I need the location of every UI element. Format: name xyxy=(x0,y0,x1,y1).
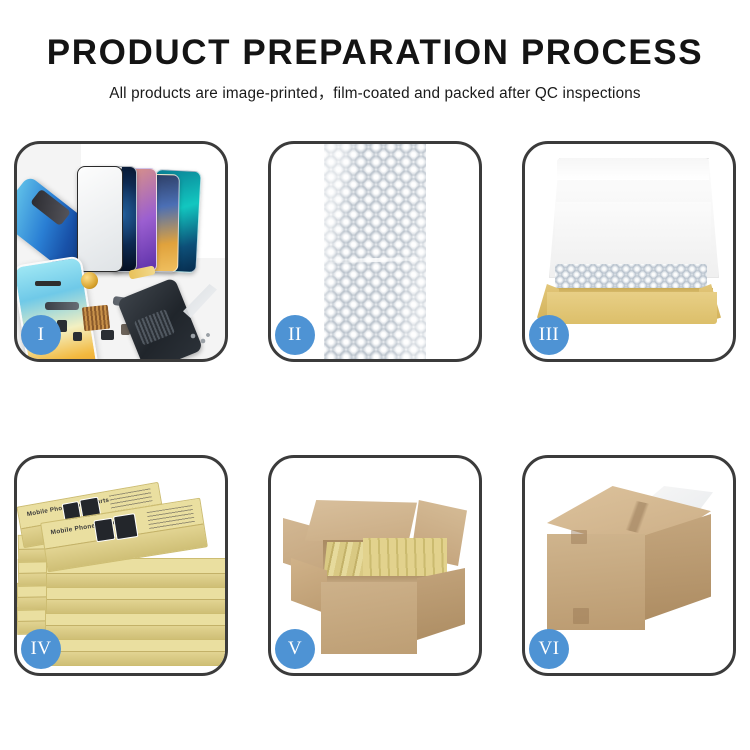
plastic-sheen xyxy=(324,144,426,359)
step-badge-5: V xyxy=(275,629,315,669)
phone-screen-fan xyxy=(77,160,225,272)
step-panel-6: VI xyxy=(522,455,736,676)
step-panel-2: II xyxy=(268,141,482,362)
kraft-box-front-icon xyxy=(547,292,717,324)
carton-right-face xyxy=(417,568,465,640)
stacked-box-front-5 xyxy=(45,636,225,666)
carton-handle-tab-top xyxy=(571,530,587,544)
step-panel-4: Mobile Phone Spare Parts Mobile Phone Sp… xyxy=(14,455,228,676)
step-panel-1: I xyxy=(14,141,228,362)
process-steps-grid: I II III xyxy=(14,141,736,676)
box-lid-top-edge xyxy=(557,158,709,180)
step-badge-4: IV xyxy=(21,629,61,669)
part-chip-3-icon xyxy=(101,330,114,340)
carton-handle-tab-bottom xyxy=(573,608,589,624)
page-title: PRODUCT PREPARATION PROCESS xyxy=(0,34,750,72)
carton-front-face xyxy=(321,582,417,654)
packed-boxes-row-2-icon xyxy=(363,538,447,576)
sealed-carton-front-face xyxy=(547,534,645,630)
part-ic-chip-grid-icon xyxy=(82,305,110,332)
page-header: PRODUCT PREPARATION PROCESS All products… xyxy=(0,0,750,103)
box-side xyxy=(47,599,225,613)
part-strip-icon xyxy=(35,281,61,286)
step-panel-5: V xyxy=(268,455,482,676)
box-phone-image-d xyxy=(113,513,138,540)
step-badge-3: III xyxy=(529,315,569,355)
step-panel-3: III xyxy=(522,141,736,362)
screws-icon xyxy=(189,332,211,346)
page-subtitle: All products are image-printed，film-coat… xyxy=(0,81,750,103)
box-side xyxy=(46,651,225,665)
part-chip-2-icon xyxy=(73,332,82,341)
box-side xyxy=(47,573,225,587)
part-flex-cable-dark-icon xyxy=(45,302,79,310)
step-badge-1: I xyxy=(21,315,61,355)
phone-backplate-icon xyxy=(117,277,204,359)
stacked-box-front-3 xyxy=(46,584,225,614)
foam-sheet-icon xyxy=(555,202,711,264)
bubble-wrap-sheet-icon xyxy=(324,144,426,359)
stacked-box-front-4 xyxy=(45,610,225,640)
tweezers-icon xyxy=(183,284,217,318)
step-badge-6: VI xyxy=(529,629,569,669)
box-side xyxy=(46,625,225,639)
step-badge-2: II xyxy=(275,315,315,355)
tempered-glass-icon xyxy=(77,166,123,272)
box-phone-image-c xyxy=(93,518,115,543)
part-speaker-coil-icon xyxy=(81,272,98,289)
